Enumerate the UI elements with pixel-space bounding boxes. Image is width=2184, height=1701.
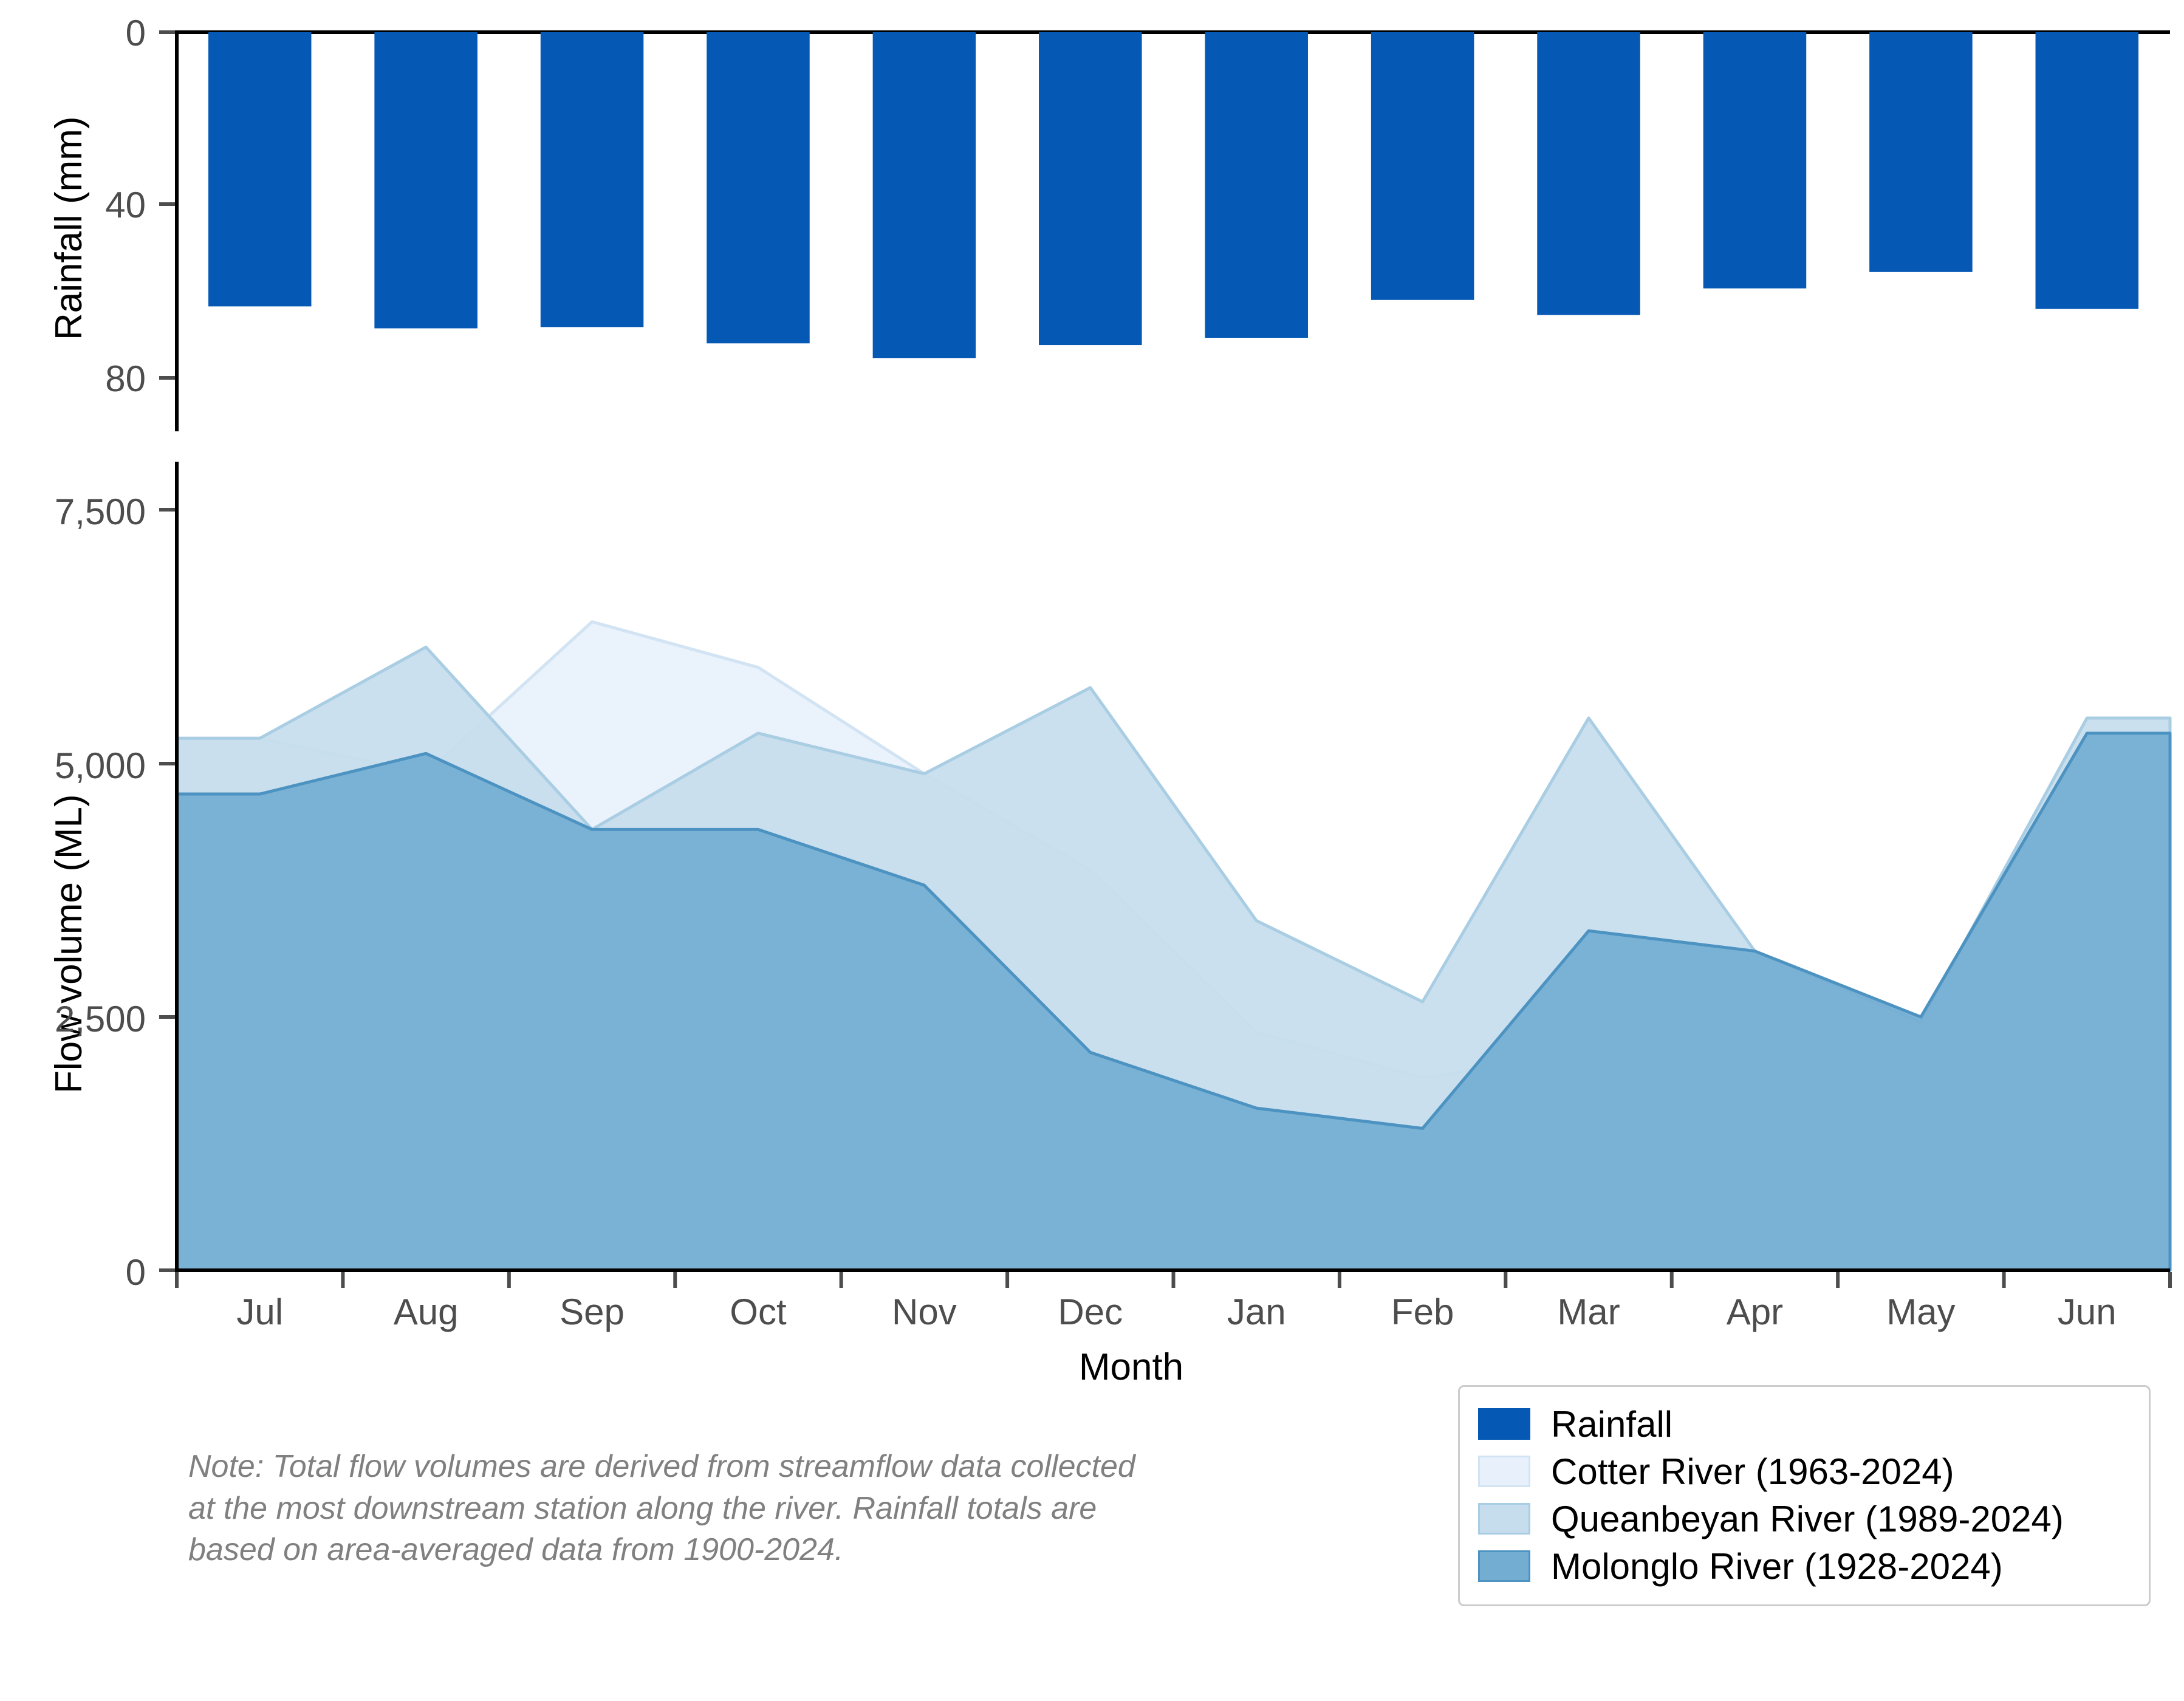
x-tick-label-may: May (1830, 1291, 2012, 1333)
x-tick-label-sep: Sep (501, 1291, 683, 1333)
legend-label-queanbeyan-river: Queanbeyan River (1989-2024) (1551, 1498, 2064, 1540)
x-tick-label-dec: Dec (999, 1291, 1182, 1333)
x-tick-label-oct: Oct (667, 1291, 849, 1333)
chart-canvas: Rainfall (mm) 0 40 80 Flow volume (ML) 7… (0, 0, 2184, 1701)
legend-label-molonglo-river: Molonglo River (1928-2024) (1551, 1545, 2003, 1587)
x-tick-label-jan: Jan (1165, 1291, 1347, 1333)
chart-legend: Rainfall Cotter River (1963-2024) Queanb… (1458, 1385, 2151, 1606)
x-tick-label-nov: Nov (833, 1291, 1015, 1333)
x-tick-label-feb: Feb (1332, 1291, 1514, 1333)
x-axis-label: Month (1079, 1346, 1183, 1389)
legend-swatch-cotter-river (1478, 1456, 1530, 1487)
x-tick-label-jul: Jul (169, 1291, 351, 1333)
flow-left-spine (175, 462, 179, 1272)
legend-label-cotter-river: Cotter River (1963-2024) (1551, 1451, 1954, 1493)
legend-item-rainfall[interactable]: Rainfall (1478, 1400, 2131, 1448)
legend-swatch-rainfall (1478, 1408, 1530, 1440)
flow-area-series (0, 0, 2184, 1336)
legend-label-rainfall: Rainfall (1551, 1403, 1672, 1445)
legend-item-molonglo-river[interactable]: Molonglo River (1928-2024) (1478, 1542, 2131, 1590)
legend-swatch-queanbeyan-river (1478, 1503, 1530, 1535)
x-tick-label-mar: Mar (1498, 1291, 1680, 1333)
legend-item-cotter-river[interactable]: Cotter River (1963-2024) (1478, 1448, 2131, 1495)
legend-item-queanbeyan-river[interactable]: Queanbeyan River (1989-2024) (1478, 1495, 2131, 1542)
x-tick-label-aug: Aug (335, 1291, 517, 1333)
x-tick-label-jun: Jun (1996, 1291, 2178, 1333)
x-tick-label-apr: Apr (1663, 1291, 1846, 1333)
legend-swatch-molonglo-river (1478, 1550, 1530, 1582)
chart-note: Note: Total flow volumes are derived fro… (188, 1446, 1294, 1571)
